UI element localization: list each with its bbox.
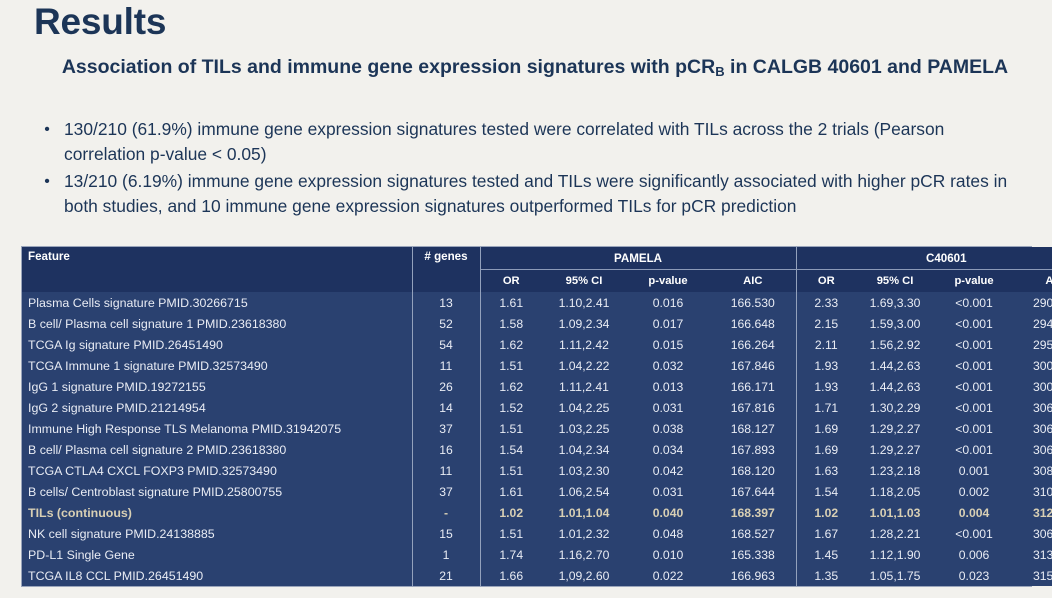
cell-genes: 11 bbox=[412, 460, 480, 481]
table-row: Plasma Cells signature PMID.30266715131.… bbox=[22, 292, 1052, 313]
cell-pamela-or: 1.02 bbox=[480, 502, 542, 523]
cell-c40601-or: 1.69 bbox=[796, 439, 856, 460]
column-header-pamela-pvalue: p-value bbox=[626, 270, 710, 293]
cell-feature: IgG 2 signature PMID.21214954 bbox=[22, 397, 412, 418]
cell-pamela-ci: 1.04,2.25 bbox=[542, 397, 626, 418]
results-table: Feature # genes PAMELA C40601 OR 95% CI … bbox=[22, 247, 1052, 586]
cell-feature: NK cell signature PMID.24138885 bbox=[22, 523, 412, 544]
cell-c40601-ci: 1.28,2.21 bbox=[856, 523, 934, 544]
cell-pamela-or: 1.66 bbox=[480, 565, 542, 586]
cell-c40601-pvalue: 0.006 bbox=[934, 544, 1014, 565]
bullet-text: 13/210 (6.19%) immune gene expression si… bbox=[64, 169, 1020, 219]
cell-pamela-or: 1.52 bbox=[480, 397, 542, 418]
cell-c40601-ci: 1.23,2.18 bbox=[856, 460, 934, 481]
list-item: • 13/210 (6.19%) immune gene expression … bbox=[30, 169, 1020, 219]
cell-c40601-pvalue: 0.001 bbox=[934, 460, 1014, 481]
cell-c40601-ci: 1.29,2.27 bbox=[856, 439, 934, 460]
cell-c40601-aic: 294.387 bbox=[1014, 313, 1052, 334]
cell-pamela-pvalue: 0.016 bbox=[626, 292, 710, 313]
cell-feature: TCGA CTLA4 CXCL FOXP3 PMID.32573490 bbox=[22, 460, 412, 481]
cell-c40601-or: 1.35 bbox=[796, 565, 856, 586]
cell-genes: 16 bbox=[412, 439, 480, 460]
cell-pamela-or: 1.74 bbox=[480, 544, 542, 565]
page-title: Results bbox=[34, 2, 166, 42]
cell-c40601-pvalue: <0.001 bbox=[934, 376, 1014, 397]
subtitle-part-1: Association of TILs and immune gene expr… bbox=[62, 56, 715, 78]
cell-c40601-or: 1.93 bbox=[796, 355, 856, 376]
cell-c40601-or: 2.15 bbox=[796, 313, 856, 334]
cell-c40601-pvalue: <0.001 bbox=[934, 313, 1014, 334]
column-header-pamela-ci: 95% CI bbox=[542, 270, 626, 293]
cell-c40601-pvalue: 0.002 bbox=[934, 481, 1014, 502]
cell-c40601-or: 1.93 bbox=[796, 376, 856, 397]
cell-genes: 15 bbox=[412, 523, 480, 544]
cell-c40601-ci: 1.69,3.30 bbox=[856, 292, 934, 313]
cell-pamela-or: 1.61 bbox=[480, 481, 542, 502]
cell-pamela-aic: 168.397 bbox=[710, 502, 796, 523]
cell-c40601-pvalue: <0.001 bbox=[934, 355, 1014, 376]
cell-c40601-aic: 306.242 bbox=[1014, 397, 1052, 418]
cell-feature: TCGA Immune 1 signature PMID.32573490 bbox=[22, 355, 412, 376]
cell-c40601-aic: 313.312 bbox=[1014, 544, 1052, 565]
slide-subtitle: Association of TILs and immune gene expr… bbox=[40, 56, 1030, 80]
cell-pamela-or: 1.54 bbox=[480, 439, 542, 460]
cell-feature: PD-L1 Single Gene bbox=[22, 544, 412, 565]
cell-pamela-pvalue: 0.031 bbox=[626, 397, 710, 418]
cell-pamela-ci: 1,09,2.60 bbox=[542, 565, 626, 586]
table-row: PD-L1 Single Gene11.741.16,2.700.010165.… bbox=[22, 544, 1052, 565]
cell-c40601-ci: 1.12,1.90 bbox=[856, 544, 934, 565]
table-row: Immune High Response TLS Melanoma PMID.3… bbox=[22, 418, 1052, 439]
table-row: B cells/ Centroblast signature PMID.2580… bbox=[22, 481, 1052, 502]
cell-genes: 1 bbox=[412, 544, 480, 565]
cell-pamela-ci: 1.06,2.54 bbox=[542, 481, 626, 502]
column-group-header-pamela: PAMELA bbox=[480, 247, 796, 270]
column-header-c40601-pvalue: p-value bbox=[934, 270, 1014, 293]
cell-c40601-pvalue: <0.001 bbox=[934, 397, 1014, 418]
cell-c40601-aic: 312.641 bbox=[1014, 502, 1052, 523]
cell-pamela-aic: 168.527 bbox=[710, 523, 796, 544]
column-header-genes: # genes bbox=[412, 247, 480, 292]
table-row: B cell/ Plasma cell signature 2 PMID.236… bbox=[22, 439, 1052, 460]
cell-pamela-pvalue: 0.038 bbox=[626, 418, 710, 439]
table-row: B cell/ Plasma cell signature 1 PMID.236… bbox=[22, 313, 1052, 334]
cell-c40601-ci: 1.44,2.63 bbox=[856, 376, 934, 397]
column-header-feature: Feature bbox=[22, 247, 412, 292]
cell-c40601-pvalue: <0.001 bbox=[934, 418, 1014, 439]
column-header-c40601-aic: AIC bbox=[1014, 270, 1052, 293]
table-header-row-groups: Feature # genes PAMELA C40601 bbox=[22, 247, 1052, 270]
cell-feature: B cell/ Plasma cell signature 1 PMID.236… bbox=[22, 313, 412, 334]
cell-pamela-aic: 165.338 bbox=[710, 544, 796, 565]
cell-c40601-aic: 300.022 bbox=[1014, 355, 1052, 376]
cell-pamela-ci: 1.01,1.04 bbox=[542, 502, 626, 523]
cell-pamela-aic: 166.171 bbox=[710, 376, 796, 397]
cell-genes: 37 bbox=[412, 418, 480, 439]
cell-pamela-pvalue: 0.048 bbox=[626, 523, 710, 544]
cell-genes: 14 bbox=[412, 397, 480, 418]
cell-c40601-aic: 306.348 bbox=[1014, 523, 1052, 544]
cell-c40601-pvalue: <0.001 bbox=[934, 334, 1014, 355]
cell-pamela-aic: 166.963 bbox=[710, 565, 796, 586]
column-group-header-c40601: C40601 bbox=[796, 247, 1052, 270]
cell-feature: TILs (continuous) bbox=[22, 502, 412, 523]
results-table-container: Feature # genes PAMELA C40601 OR 95% CI … bbox=[21, 246, 1032, 587]
cell-c40601-aic: 306.516 bbox=[1014, 439, 1052, 460]
cell-pamela-pvalue: 0.022 bbox=[626, 565, 710, 586]
subtitle-subscript: B bbox=[715, 64, 724, 79]
cell-feature: B cells/ Centroblast signature PMID.2580… bbox=[22, 481, 412, 502]
cell-pamela-or: 1.51 bbox=[480, 460, 542, 481]
cell-pamela-aic: 166.648 bbox=[710, 313, 796, 334]
table-row: IgG 1 signature PMID.19272155261.621.11,… bbox=[22, 376, 1052, 397]
cell-c40601-pvalue: <0.001 bbox=[934, 523, 1014, 544]
table-row: TCGA CTLA4 CXCL FOXP3 PMID.32573490111.5… bbox=[22, 460, 1052, 481]
cell-pamela-or: 1.51 bbox=[480, 523, 542, 544]
table-head: Feature # genes PAMELA C40601 OR 95% CI … bbox=[22, 247, 1052, 292]
cell-pamela-aic: 167.893 bbox=[710, 439, 796, 460]
cell-c40601-or: 1.63 bbox=[796, 460, 856, 481]
cell-pamela-ci: 1.04,2.22 bbox=[542, 355, 626, 376]
cell-pamela-or: 1.58 bbox=[480, 313, 542, 334]
cell-genes: 37 bbox=[412, 481, 480, 502]
cell-c40601-aic: 308.864 bbox=[1014, 460, 1052, 481]
cell-c40601-ci: 1.30,2.29 bbox=[856, 397, 934, 418]
cell-pamela-aic: 167.816 bbox=[710, 397, 796, 418]
cell-c40601-aic: 295.148 bbox=[1014, 334, 1052, 355]
cell-c40601-or: 1.02 bbox=[796, 502, 856, 523]
cell-pamela-ci: 1.03,2.30 bbox=[542, 460, 626, 481]
cell-genes: 13 bbox=[412, 292, 480, 313]
cell-pamela-pvalue: 0.034 bbox=[626, 439, 710, 460]
cell-genes: 54 bbox=[412, 334, 480, 355]
table-row: TCGA Immune 1 signature PMID.32573490111… bbox=[22, 355, 1052, 376]
table-row: TILs (continuous)-1.021.01,1.040.040168.… bbox=[22, 502, 1052, 523]
cell-genes: - bbox=[412, 502, 480, 523]
cell-c40601-ci: 1.59,3.00 bbox=[856, 313, 934, 334]
cell-feature: Plasma Cells signature PMID.30266715 bbox=[22, 292, 412, 313]
bullet-marker-icon: • bbox=[30, 117, 64, 142]
cell-pamela-pvalue: 0.040 bbox=[626, 502, 710, 523]
cell-pamela-ci: 1.01,2.32 bbox=[542, 523, 626, 544]
table-row: NK cell signature PMID.24138885151.511.0… bbox=[22, 523, 1052, 544]
cell-pamela-ci: 1.03,2.25 bbox=[542, 418, 626, 439]
cell-c40601-aic: 290.157 bbox=[1014, 292, 1052, 313]
cell-pamela-or: 1.51 bbox=[480, 418, 542, 439]
cell-genes: 21 bbox=[412, 565, 480, 586]
bullet-list: • 130/210 (61.9%) immune gene expression… bbox=[30, 117, 1020, 221]
cell-pamela-ci: 1.11,2.42 bbox=[542, 334, 626, 355]
cell-pamela-aic: 167.846 bbox=[710, 355, 796, 376]
table-row: TCGA Ig signature PMID.26451490541.621.1… bbox=[22, 334, 1052, 355]
cell-feature: TCGA IL8 CCL PMID.26451490 bbox=[22, 565, 412, 586]
cell-pamela-pvalue: 0.042 bbox=[626, 460, 710, 481]
cell-pamela-pvalue: 0.032 bbox=[626, 355, 710, 376]
bullet-text: 130/210 (61.9%) immune gene expression s… bbox=[64, 117, 1020, 167]
cell-pamela-or: 1.51 bbox=[480, 355, 542, 376]
cell-c40601-or: 2.11 bbox=[796, 334, 856, 355]
cell-pamela-or: 1.61 bbox=[480, 292, 542, 313]
cell-pamela-ci: 1.09,2.34 bbox=[542, 313, 626, 334]
column-header-c40601-or: OR bbox=[796, 270, 856, 293]
cell-c40601-aic: 300.226 bbox=[1014, 376, 1052, 397]
cell-c40601-ci: 1.29,2.27 bbox=[856, 418, 934, 439]
column-header-pamela-aic: AIC bbox=[710, 270, 796, 293]
cell-pamela-aic: 168.120 bbox=[710, 460, 796, 481]
cell-c40601-aic: 310.732 bbox=[1014, 481, 1052, 502]
list-item: • 130/210 (61.9%) immune gene expression… bbox=[30, 117, 1020, 167]
cell-c40601-pvalue: 0.004 bbox=[934, 502, 1014, 523]
cell-feature: B cell/ Plasma cell signature 2 PMID.236… bbox=[22, 439, 412, 460]
cell-pamela-aic: 168.127 bbox=[710, 418, 796, 439]
cell-genes: 52 bbox=[412, 313, 480, 334]
cell-c40601-pvalue: 0.023 bbox=[934, 565, 1014, 586]
bullet-marker-icon: • bbox=[30, 169, 64, 194]
cell-c40601-aic: 315.768 bbox=[1014, 565, 1052, 586]
cell-pamela-pvalue: 0.017 bbox=[626, 313, 710, 334]
table-row: TCGA IL8 CCL PMID.26451490211.661,09,2.6… bbox=[22, 565, 1052, 586]
cell-c40601-or: 1.67 bbox=[796, 523, 856, 544]
cell-genes: 11 bbox=[412, 355, 480, 376]
cell-pamela-aic: 166.530 bbox=[710, 292, 796, 313]
cell-pamela-aic: 167.644 bbox=[710, 481, 796, 502]
column-header-pamela-or: OR bbox=[480, 270, 542, 293]
cell-pamela-ci: 1.04,2.34 bbox=[542, 439, 626, 460]
cell-feature: Immune High Response TLS Melanoma PMID.3… bbox=[22, 418, 412, 439]
column-header-c40601-ci: 95% CI bbox=[856, 270, 934, 293]
cell-c40601-or: 1.71 bbox=[796, 397, 856, 418]
cell-c40601-pvalue: <0.001 bbox=[934, 292, 1014, 313]
cell-c40601-pvalue: <0.001 bbox=[934, 439, 1014, 460]
cell-c40601-or: 1.69 bbox=[796, 418, 856, 439]
cell-pamela-aic: 166.264 bbox=[710, 334, 796, 355]
cell-pamela-pvalue: 0.015 bbox=[626, 334, 710, 355]
cell-c40601-ci: 1.44,2.63 bbox=[856, 355, 934, 376]
cell-c40601-or: 1.54 bbox=[796, 481, 856, 502]
cell-c40601-or: 1.45 bbox=[796, 544, 856, 565]
cell-pamela-or: 1.62 bbox=[480, 334, 542, 355]
cell-pamela-ci: 1.11,2.41 bbox=[542, 376, 626, 397]
cell-genes: 26 bbox=[412, 376, 480, 397]
cell-pamela-pvalue: 0.031 bbox=[626, 481, 710, 502]
cell-c40601-ci: 1.18,2.05 bbox=[856, 481, 934, 502]
cell-pamela-ci: 1.10,2.41 bbox=[542, 292, 626, 313]
cell-c40601-ci: 1.56,2.92 bbox=[856, 334, 934, 355]
cell-feature: IgG 1 signature PMID.19272155 bbox=[22, 376, 412, 397]
cell-feature: TCGA Ig signature PMID.26451490 bbox=[22, 334, 412, 355]
cell-c40601-ci: 1.05,1.75 bbox=[856, 565, 934, 586]
cell-pamela-pvalue: 0.013 bbox=[626, 376, 710, 397]
table-body: Plasma Cells signature PMID.30266715131.… bbox=[22, 292, 1052, 586]
cell-pamela-ci: 1.16,2.70 bbox=[542, 544, 626, 565]
table-row: IgG 2 signature PMID.21214954141.521.04,… bbox=[22, 397, 1052, 418]
cell-c40601-or: 2.33 bbox=[796, 292, 856, 313]
cell-c40601-ci: 1.01,1.03 bbox=[856, 502, 934, 523]
cell-pamela-or: 1.62 bbox=[480, 376, 542, 397]
subtitle-part-2: in CALGB 40601 and PAMELA bbox=[725, 56, 1009, 78]
cell-c40601-aic: 306.514 bbox=[1014, 418, 1052, 439]
cell-pamela-pvalue: 0.010 bbox=[626, 544, 710, 565]
